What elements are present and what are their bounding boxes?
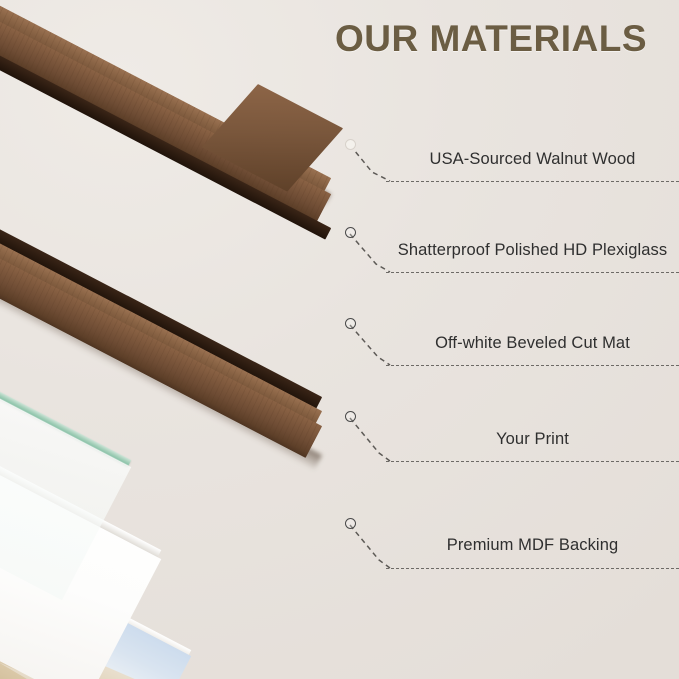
callout-label-beveled-mat: Off-white Beveled Cut Mat bbox=[386, 334, 679, 353]
callout-label-mdf-backing: Premium MDF Backing bbox=[386, 536, 679, 555]
callout-rule-walnut-wood bbox=[386, 181, 679, 182]
callout-label-plexiglass: Shatterproof Polished HD Plexiglass bbox=[386, 241, 679, 260]
marker-plexiglass[interactable] bbox=[345, 227, 356, 238]
callout-rule-plexiglass bbox=[386, 272, 679, 273]
materials-infographic: OUR MATERIALS USA-Sourced Walnut Wood Sh… bbox=[0, 0, 679, 679]
callout-rule-beveled-mat bbox=[386, 365, 679, 366]
callout-rule-your-print bbox=[386, 461, 679, 462]
page-title: OUR MATERIALS bbox=[311, 18, 671, 60]
marker-walnut-wood[interactable] bbox=[345, 139, 356, 150]
callout-label-walnut-wood: USA-Sourced Walnut Wood bbox=[386, 150, 679, 169]
callout-rule-mdf-backing bbox=[386, 568, 679, 569]
marker-beveled-mat[interactable] bbox=[345, 318, 356, 329]
callout-label-your-print: Your Print bbox=[386, 430, 679, 449]
marker-your-print[interactable] bbox=[345, 411, 356, 422]
marker-mdf-backing[interactable] bbox=[345, 518, 356, 529]
